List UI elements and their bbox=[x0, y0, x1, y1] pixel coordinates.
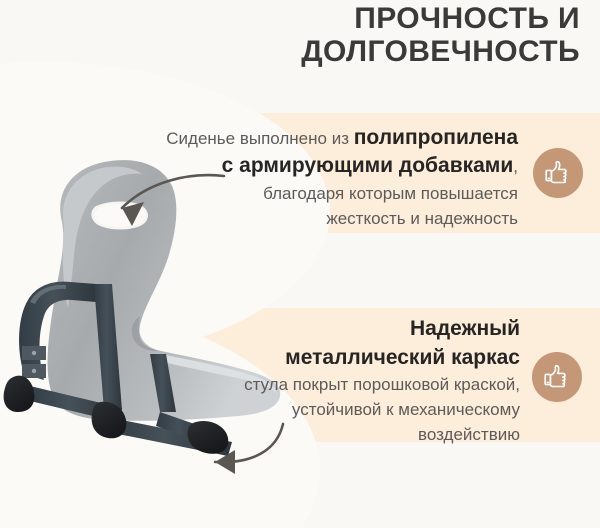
copy-1-line-1-prefix: Сиденье выполнено из bbox=[166, 129, 353, 148]
copy-2-line-5: воздействию bbox=[100, 422, 520, 447]
copy-1-line-1-emphasis: полипропилена bbox=[354, 126, 518, 149]
copy-2-line-1: Надежный bbox=[100, 314, 520, 343]
copy-1-line-4: жесткость и надежность bbox=[98, 206, 518, 231]
quality-badge-seat bbox=[533, 148, 583, 198]
copy-2-line-2: металлический каркас bbox=[100, 343, 520, 372]
thumbs-up-icon bbox=[543, 158, 573, 188]
feature-text-seat-material: Сиденье выполнено из полипропилена с арм… bbox=[98, 124, 518, 231]
page-title: ПРОЧНОСТЬ И ДОЛГОВЕЧНОСТЬ bbox=[160, 2, 580, 68]
feature-text-metal-frame: Надежный металлический каркас стула покр… bbox=[100, 314, 520, 447]
page-title-line-2: ДОЛГОВЕЧНОСТЬ bbox=[160, 35, 580, 68]
copy-1-line-1: Сиденье выполнено из полипропилена bbox=[98, 124, 518, 152]
copy-2-line-4: устойчивой к механическому bbox=[100, 397, 520, 422]
copy-1-line-2-suffix: , bbox=[513, 157, 518, 176]
copy-1-line-2: с армирующими добавками, bbox=[98, 152, 518, 181]
page-title-line-1: ПРОЧНОСТЬ И bbox=[160, 2, 580, 35]
infographic-canvas: ПРОЧНОСТЬ И ДОЛГОВЕЧНОСТЬ bbox=[0, 0, 600, 528]
thumbs-up-icon bbox=[542, 362, 572, 392]
copy-1-line-3: благодаря которым повышается bbox=[98, 181, 518, 206]
quality-badge-frame bbox=[532, 352, 582, 402]
copy-1-line-2-emphasis: с армирующими добавками bbox=[222, 154, 514, 177]
copy-2-line-3: стула покрыт порошковой краской, bbox=[100, 372, 520, 397]
